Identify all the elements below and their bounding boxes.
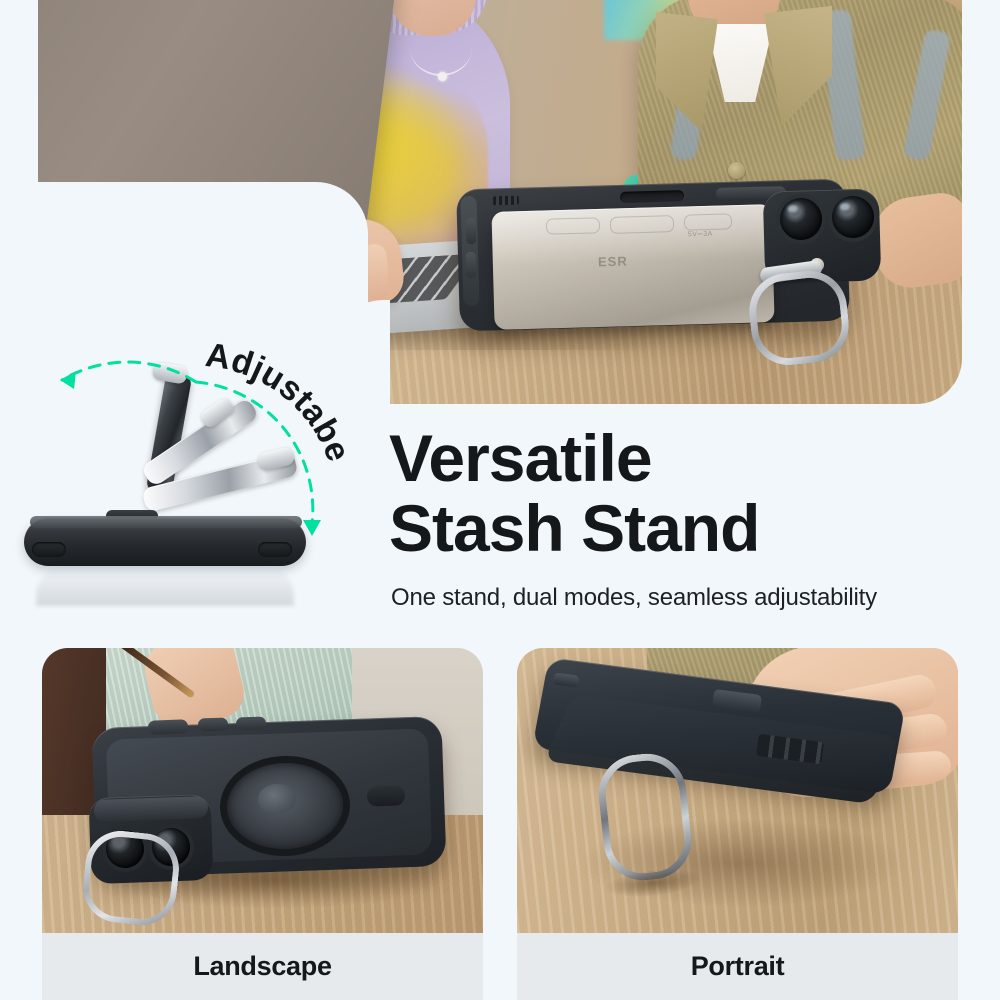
adjustable-stand-diagram: Adjustabe (10, 352, 380, 614)
arrow-head-left (60, 371, 76, 389)
power-bank-spec-text: 5V⎓3A (688, 231, 713, 240)
adjustable-annotation: Adjustabe (10, 352, 380, 614)
power-bank-print-mark (610, 215, 674, 234)
headline-block: Versatile Stash Stand One stand, dual mo… (389, 424, 989, 612)
caption-bar-landscape: Landscape (42, 933, 483, 1000)
mode-card-portrait: Portrait (517, 648, 958, 1000)
necklace-pendant (438, 72, 447, 81)
headline-line-1: Versatile (389, 421, 652, 495)
case-button-cover (236, 716, 266, 730)
ring-stand-loop (595, 750, 696, 885)
subtitle: One stand, dual modes, seamless adjustab… (391, 584, 989, 612)
ring-stand (79, 827, 182, 928)
landscape-mode-photo (42, 648, 483, 933)
headline-line-2: Stash Stand (389, 494, 989, 564)
portrait-mode-photo (517, 648, 958, 933)
case-volume-button (466, 218, 477, 244)
case-button-cover (148, 719, 188, 734)
ring-stand (595, 750, 696, 885)
case-grille (493, 196, 519, 206)
cardigan-button (728, 162, 745, 179)
case-button-cover (198, 717, 228, 731)
caption-bar-portrait: Portrait (517, 933, 958, 1000)
ring-stand (745, 267, 852, 369)
ring-stand-loop (745, 267, 852, 369)
page-title: Versatile Stash Stand (389, 424, 989, 564)
mode-card-landscape: Landscape (42, 648, 483, 1000)
adjust-arc-upper (62, 362, 196, 382)
power-bank-print-mark (684, 213, 732, 230)
case-accent-pill (367, 785, 406, 806)
mode-label-portrait: Portrait (691, 951, 785, 982)
case-speaker-cutout (620, 190, 684, 203)
case-volume-button (466, 252, 477, 278)
brand-logo: ESR (598, 254, 628, 270)
power-bank-highlight (492, 204, 773, 266)
product-infographic: 5V⎓3A ESR (0, 0, 1000, 1000)
ring-stand-loop (79, 827, 182, 928)
power-bank-print-mark (546, 217, 600, 235)
necklace-chain (410, 20, 472, 76)
mode-label-landscape: Landscape (193, 951, 331, 982)
adjustable-label: Adjustabe (203, 336, 358, 467)
arrow-head-down (303, 520, 321, 536)
camera-module-band (94, 796, 209, 822)
